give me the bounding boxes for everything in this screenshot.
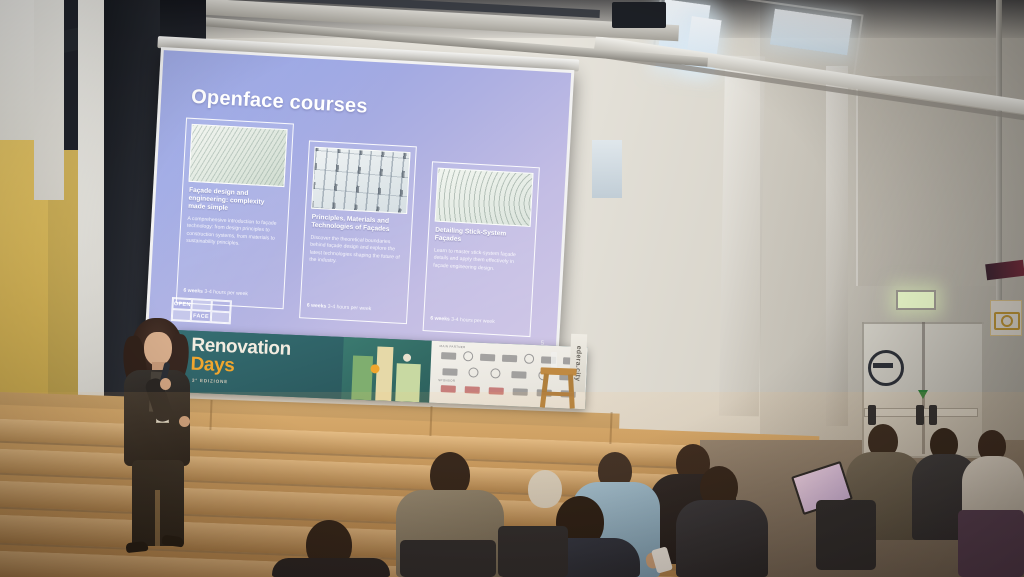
course-card: Principles, Materials and Technologies o…	[299, 140, 417, 324]
audience-chair	[816, 500, 876, 570]
course-commitment: 3-4 hours per week	[204, 289, 248, 297]
course-meta: 6 weeks 3-4 hours per week	[183, 288, 248, 298]
sponsor-logo	[442, 368, 457, 376]
sponsor-logo	[523, 354, 533, 364]
course-card: Façade design and engineering: complexit…	[176, 118, 294, 310]
side-window	[592, 140, 622, 198]
course-title: Detailing Stick-System Façades	[435, 227, 530, 248]
wall-pilaster-left	[719, 56, 765, 417]
door-center-seam	[922, 322, 925, 454]
course-title: Principles, Materials and Technologies o…	[311, 214, 406, 235]
sponsor-row-caption: MAIN PARTNER	[439, 344, 465, 349]
sponsor-logo	[512, 371, 527, 379]
audience-torso	[272, 558, 390, 577]
banner-shape	[351, 355, 373, 400]
door-handle	[868, 405, 876, 425]
speaker-hand-lower	[179, 416, 190, 427]
speaker-leg-gap	[155, 490, 160, 546]
projection-screen: Openface courses Façade design and engin…	[145, 47, 574, 358]
audience-chair	[400, 540, 496, 577]
course-thumbnail	[311, 147, 410, 214]
course-duration: 6 weeks	[307, 303, 327, 310]
sponsor-logo	[440, 385, 455, 393]
sponsor-logo	[480, 353, 495, 361]
presentation-slide: Openface courses Façade design and engin…	[148, 50, 571, 354]
door-handle	[916, 405, 924, 425]
no-entry-icon-bar	[873, 363, 893, 368]
stool-rail	[542, 391, 574, 396]
ceiling-speaker-box	[612, 2, 666, 28]
banner-shape	[395, 363, 421, 402]
sponsor-logo	[441, 352, 456, 360]
audience-head	[528, 470, 562, 508]
sponsor-logo	[469, 367, 479, 377]
course-meta: 6 weeks 3-4 hours per week	[430, 315, 495, 325]
audience-torso	[676, 500, 768, 577]
sponsor-row-caption: SPONSOR	[438, 378, 455, 383]
conference-photo-scene: Openface courses Façade design and engin…	[0, 0, 1024, 577]
sponsor-logo	[488, 387, 503, 395]
speaker-face	[144, 332, 172, 366]
course-commitment: 3-4 hours per week	[451, 317, 495, 325]
facade-pattern-icon	[436, 169, 533, 226]
course-description: Learn to master stick-system façade deta…	[433, 248, 528, 275]
speaker-hand	[160, 378, 171, 390]
sponsor-logo	[462, 351, 472, 361]
sponsor-row	[437, 350, 581, 366]
emergency-exit-light	[896, 290, 936, 310]
course-thumbnail	[189, 124, 288, 187]
sponsor-logo	[464, 386, 479, 394]
course-commitment: 3-4 hours per week	[328, 304, 372, 312]
course-title: Façade design and engineering: complexit…	[188, 187, 283, 216]
course-card: Detailing Stick-System Façades Learn to …	[423, 161, 540, 337]
banner-shape	[375, 346, 393, 401]
wall-conduit-pipe	[996, 0, 1002, 300]
course-thumbnail	[435, 168, 534, 227]
banner-illustration	[341, 337, 432, 403]
door-handle	[929, 405, 937, 425]
banner-shape	[403, 354, 411, 362]
wooden-stool	[539, 367, 576, 408]
slide-title: Openface courses	[191, 86, 369, 119]
course-description: A comprehensive introduction to façade t…	[186, 216, 282, 251]
course-description: Discover the theoretical boundaries behi…	[309, 235, 405, 270]
sponsor-logo	[512, 388, 527, 396]
facade-pattern-icon	[312, 148, 409, 213]
audience-chair	[498, 526, 568, 577]
course-meta: 6 weeks 3-4 hours per week	[307, 303, 372, 313]
sponsor-logo	[501, 354, 516, 362]
no-entry-icon	[868, 350, 904, 386]
camera-lens-icon	[1001, 315, 1013, 327]
course-duration: 6 weeks	[430, 315, 450, 322]
white-column-upper	[34, 0, 64, 200]
speaker-shoe	[126, 541, 149, 553]
audience-chair	[958, 510, 1024, 577]
sponsor-logo	[490, 368, 500, 378]
exit-arrow-icon	[918, 390, 928, 399]
speaker-presenter	[110, 318, 206, 560]
course-card-list: Façade design and engineering: complexit…	[175, 118, 553, 330]
course-duration: 6 weeks	[183, 288, 203, 295]
openface-logo-block	[210, 311, 230, 323]
wall-pilaster-right	[826, 66, 848, 426]
facade-pattern-icon	[190, 125, 287, 186]
